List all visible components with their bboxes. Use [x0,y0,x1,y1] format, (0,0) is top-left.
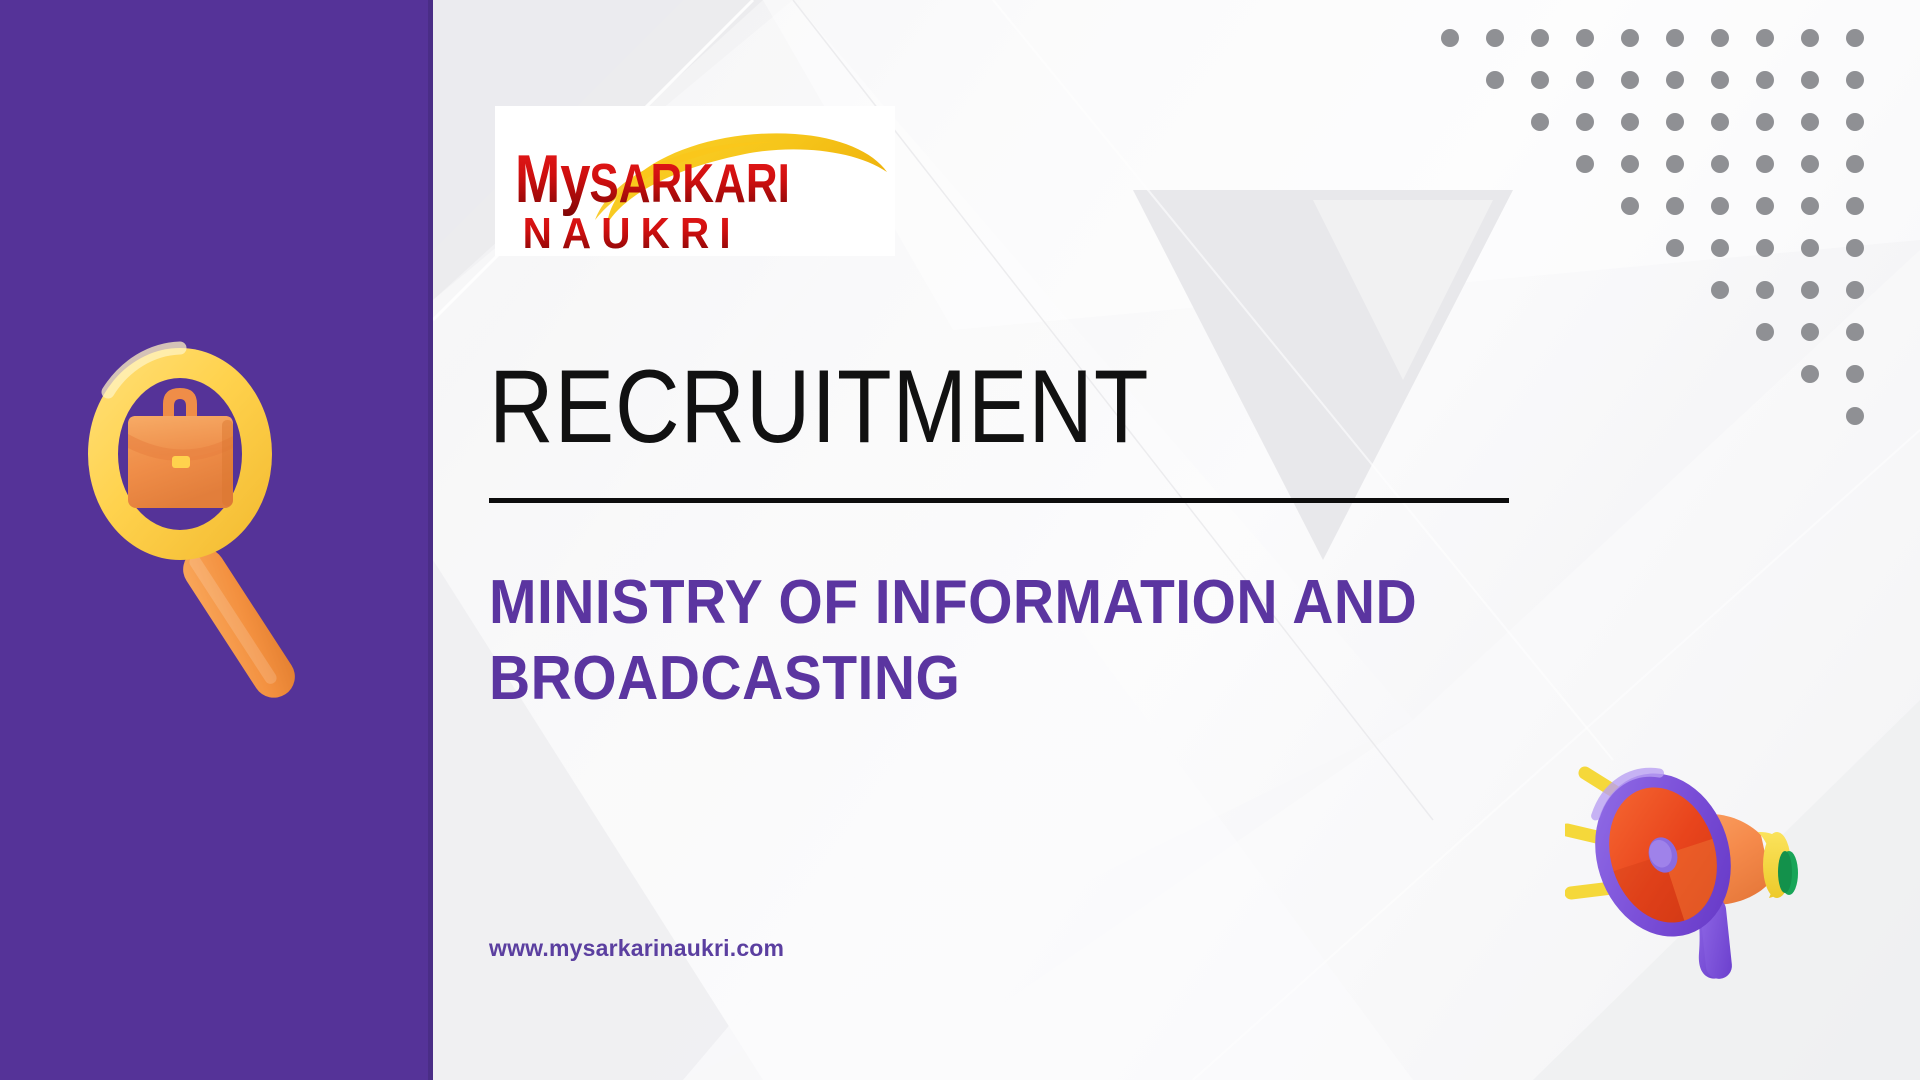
organisation-name-line2: BROADCASTING [489,641,1446,717]
recruitment-poster: My SARKARI NAUKRI RECRUITMENT MINISTRY O… [0,0,1920,1080]
page-title: RECRUITMENT [489,355,1149,459]
magnifier-svg [78,330,328,720]
megaphone-svg [1565,725,1845,995]
magnifier-handle [175,540,303,705]
mysarkarinaukri-logo: My SARKARI NAUKRI [495,106,895,256]
dot-grid-svg [1440,28,1900,508]
website-url[interactable]: www.mysarkarinaukri.com [489,935,784,962]
left-panel-edge [428,0,433,1080]
title-divider [489,498,1509,503]
organisation-name-line1: MINISTRY OF INFORMATION AND [489,565,1446,641]
logo-line1-sarkari: SARKARI [589,152,789,214]
organisation-name: MINISTRY OF INFORMATION AND BROADCASTING [489,565,1446,716]
logo-line1-my: My [515,141,591,217]
magnifying-glass-briefcase-icon [78,330,328,720]
logo-line2-naukri: NAUKRI [523,208,741,256]
logo-svg: My SARKARI NAUKRI [495,106,895,256]
megaphone-icon [1565,725,1845,995]
dot-grid-decoration [1440,28,1900,508]
